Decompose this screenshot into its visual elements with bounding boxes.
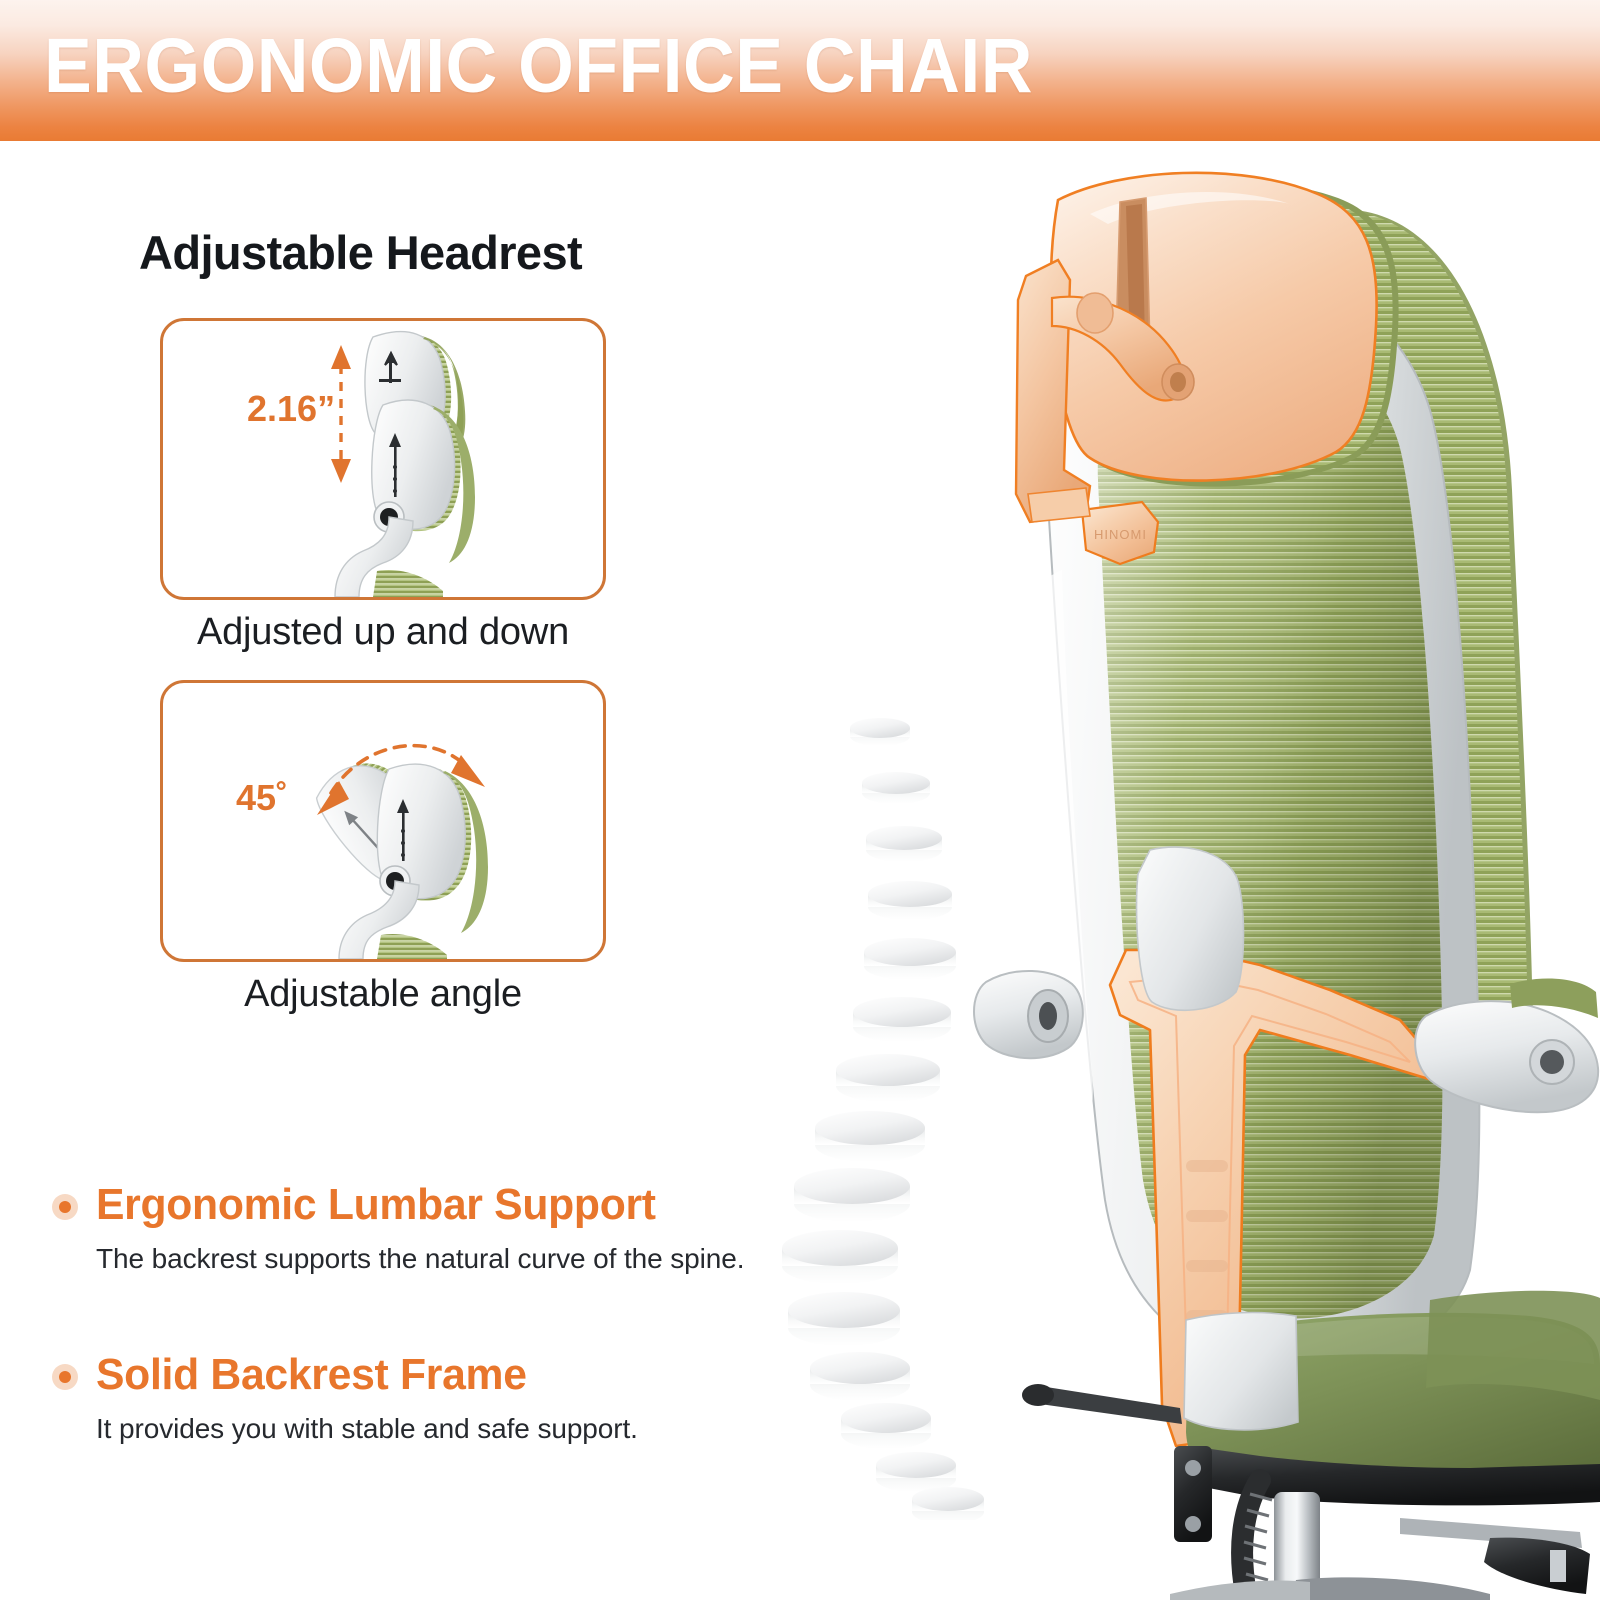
page-title: ERGONOMIC OFFICE CHAIR <box>44 22 1033 111</box>
bullet-dot-icon <box>52 1194 78 1220</box>
feature-body: It provides you with stable and safe sup… <box>96 1410 756 1448</box>
feature-heading: Solid Backrest Frame <box>96 1350 527 1400</box>
spine-disc-trail <box>770 690 1070 1520</box>
bullet-dot-icon <box>52 1364 78 1390</box>
disc-group <box>782 718 984 1520</box>
panel-caption-height: Adjusted up and down <box>160 611 606 654</box>
feature-body: The backrest supports the natural curve … <box>96 1240 756 1278</box>
height-measure-label: 2.16” <box>247 388 335 430</box>
headrest-angle-panel <box>160 680 606 962</box>
svg-text:HINOMI: HINOMI <box>1094 527 1147 542</box>
header-banner: ERGONOMIC OFFICE CHAIR <box>0 0 1600 141</box>
angle-measure-label: 45˚ <box>236 777 288 819</box>
section-title: Adjustable Headrest <box>139 225 582 280</box>
feature-heading: Ergonomic Lumbar Support <box>96 1180 656 1230</box>
panel-caption-angle: Adjustable angle <box>160 973 606 1016</box>
feature-lumbar-support: Ergonomic Lumbar Support The backrest su… <box>52 1180 782 1278</box>
headrest-height-panel <box>160 318 606 600</box>
feature-backrest-frame: Solid Backrest Frame It provides you wit… <box>52 1350 782 1448</box>
